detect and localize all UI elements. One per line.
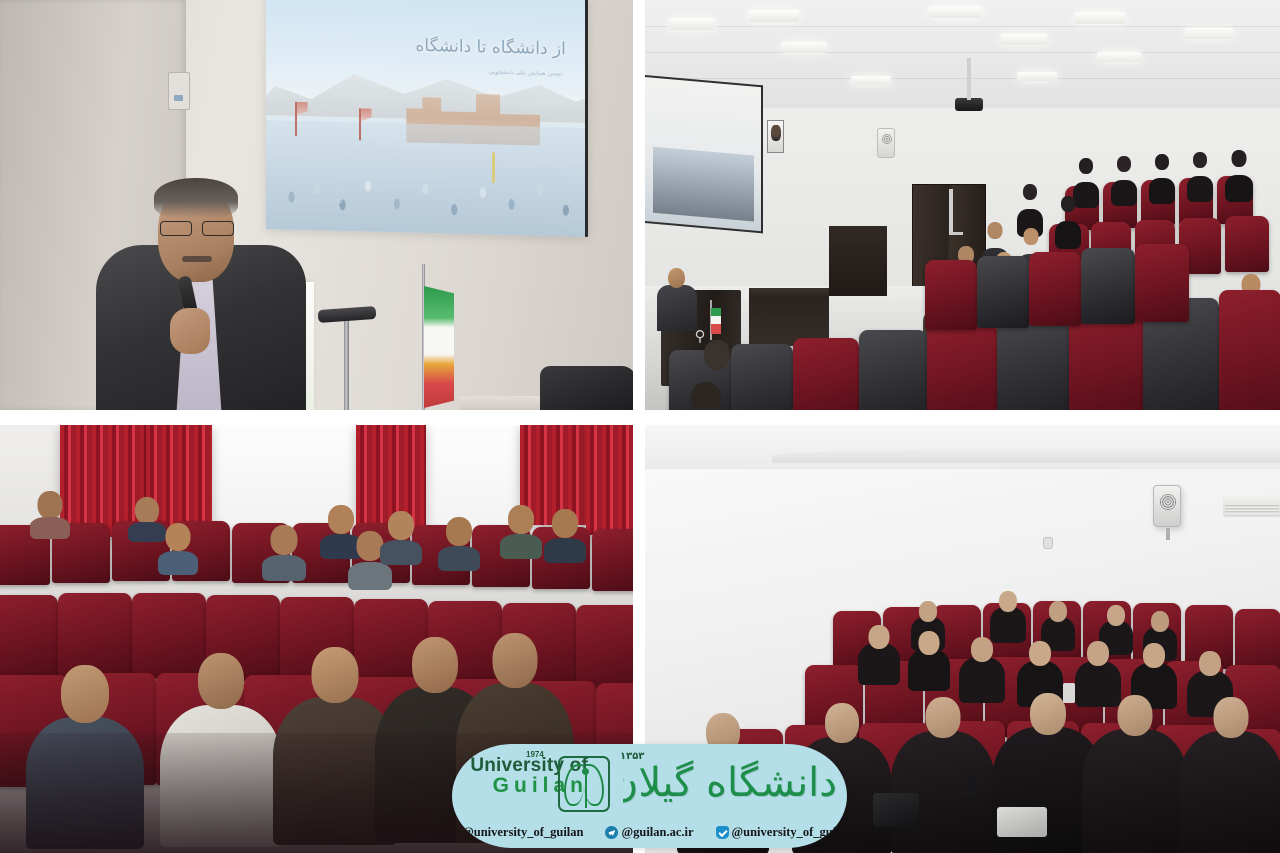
audience-member [1055, 196, 1081, 238]
audience-member [1105, 695, 1165, 853]
auditorium-seat [592, 529, 633, 591]
microphone-stand [318, 300, 378, 410]
audience-member [158, 523, 198, 569]
photo-collage: از دانشگاه تا دانشگاه دومین همایش ملی دا… [0, 0, 1280, 853]
emblem-wing-left [564, 764, 584, 806]
audience-member [262, 525, 306, 575]
auditorium-seat [731, 344, 793, 410]
university-logo-badge: 1974 ۱۳۵۳ University of Guilan دانشگاه گ… [452, 744, 847, 848]
audience-member [697, 340, 737, 380]
social-instagram-handle: @university_of_guilan [462, 825, 583, 840]
iran-flag [404, 280, 444, 410]
audience-member [500, 505, 542, 553]
audience-member [438, 517, 480, 565]
instagram-icon [452, 826, 459, 839]
slide-crowd [266, 120, 585, 237]
auditorium-seat [793, 338, 859, 410]
photo-top-right-auditorium: ⚲ [645, 0, 1280, 410]
auditorium-seat [1235, 609, 1280, 673]
speaker-hand [170, 308, 210, 354]
badge-social-links: @university_of_guilan @guilan.ac.ir @uni… [452, 825, 847, 840]
social-twitter[interactable]: @university_of_guilan [716, 825, 847, 840]
audience-member [1017, 184, 1043, 226]
light-switch-icon [168, 72, 190, 110]
office-chair [540, 366, 633, 410]
auditorium-seat [977, 256, 1029, 328]
social-instagram[interactable]: @university_of_guilan [452, 825, 583, 840]
auditorium-seat [997, 314, 1069, 410]
speaker-mustache [182, 256, 212, 262]
auditorium-seat [859, 330, 927, 410]
eyeglasses-icon [158, 221, 236, 234]
emblem-stem [585, 774, 587, 808]
flag-cloth [424, 286, 454, 408]
auditorium-seat [1081, 248, 1135, 324]
speaker-person [96, 180, 306, 410]
badge-title-row: 1974 ۱۳۵۳ University of Guilan دانشگاه گ… [452, 750, 847, 812]
mobile-phone [1063, 683, 1075, 703]
auditorium-seat [1135, 244, 1189, 322]
audience-member [1187, 152, 1213, 192]
telegram-icon [605, 826, 618, 839]
slide-yellow-flag [492, 152, 495, 182]
badge-name-persian: دانشگاه گیلان [623, 752, 837, 818]
social-telegram[interactable]: @guilan.ac.ir [605, 825, 693, 840]
auditorium-seat [1029, 252, 1081, 326]
auditorium-seat [1225, 216, 1269, 272]
presentation-slide: از دانشگاه تا دانشگاه دومین همایش ملی دا… [266, 0, 585, 237]
handbag [873, 793, 919, 827]
audience-member [1111, 156, 1137, 196]
audience-member [861, 625, 897, 681]
audience-member [544, 509, 586, 557]
seating-area [645, 0, 1280, 410]
slide-flag-1 [295, 102, 297, 136]
auditorium-seat [925, 260, 977, 330]
audience-member [993, 591, 1023, 637]
slide-title: از دانشگاه تا دانشگاه [415, 36, 565, 60]
guilan-butterfly-emblem-icon [558, 756, 610, 812]
auditorium-seat [576, 605, 633, 691]
audience-member [1149, 154, 1175, 194]
audience-member [963, 637, 1001, 697]
photo-top-left-speaker: از دانشگاه تا دانشگاه دومین همایش ملی دا… [0, 0, 633, 410]
audience-member [1201, 697, 1261, 853]
auditorium-seat [927, 322, 997, 410]
laptop-or-folder [997, 807, 1047, 837]
slide-flag-2 [359, 108, 361, 140]
audience-member [1225, 150, 1253, 192]
audience-member [1021, 641, 1059, 701]
audience-member [913, 697, 973, 853]
auditorium-seat [1219, 290, 1280, 410]
projection-screen: از دانشگاه تا دانشگاه دومین همایش ملی دا… [266, 0, 588, 237]
audience-member [683, 382, 729, 410]
audience-member [1135, 643, 1173, 703]
twitter-icon [716, 826, 729, 839]
speaker-hair [154, 178, 238, 218]
audience-member [1079, 641, 1117, 701]
audience-member [1073, 158, 1099, 198]
mobile-phone [965, 775, 978, 797]
audience-member [380, 511, 422, 559]
audience-member [911, 631, 947, 687]
social-telegram-handle: @guilan.ac.ir [621, 825, 693, 840]
audience-member [30, 491, 70, 535]
social-twitter-handle: @university_of_guilan [732, 825, 847, 840]
